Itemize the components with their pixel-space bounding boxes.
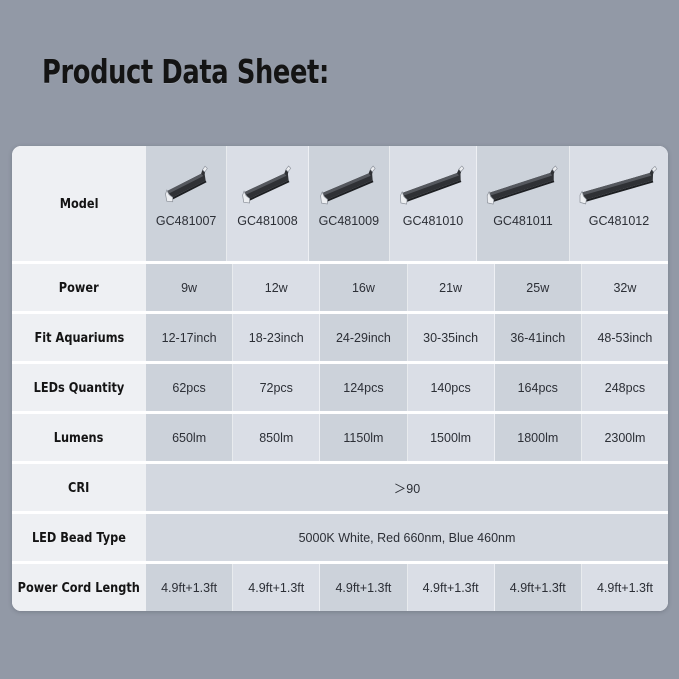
fit-aquariums-cell-5: 36-41inch [495,314,582,361]
power-cell-3: 16w [320,264,407,311]
table-row-led-bead-type: LED Bead Type 5000K White, Red 660nm, Bl… [12,514,668,564]
power-cord-length-cell-2: 4.9ft+1.3ft [233,564,320,611]
model-name: GC481007 [156,214,216,228]
leds-quantity-cell-3: 124pcs [320,364,407,411]
lumens-cell-3: 1150lm [320,414,407,461]
led-light-bar-icon [309,160,389,212]
led-light-bar-icon [146,160,226,212]
lumens-cell-6: 2300lm [582,414,668,461]
led-light-bar-icon [390,160,476,212]
power-cord-length-cell-4: 4.9ft+1.3ft [408,564,495,611]
fit-aquariums-cell-3: 24-29inch [320,314,407,361]
model-name: GC481011 [493,214,553,228]
table-row-model: Model GC481007 [12,146,668,264]
leds-quantity-cell-5: 164pcs [495,364,582,411]
power-cell-6: 32w [582,264,668,311]
row-label-lumens: Lumens [12,414,146,461]
table-row-fit-aquariums: Fit Aquariums 12-17inch 18-23inch 24-29i… [12,314,668,364]
model-cell-4: GC481010 [390,146,477,261]
fit-aquariums-cell-6: 48-53inch [582,314,668,361]
model-cell-2: GC481008 [227,146,308,261]
led-light-bar-icon [227,160,307,212]
table-row-lumens: Lumens 650lm 850lm 1150lm 1500lm 1800lm … [12,414,668,464]
fit-aquariums-cell-1: 12-17inch [146,314,233,361]
power-cell-5: 25w [495,264,582,311]
power-cell-1: 9w [146,264,233,311]
power-cord-length-cell-3: 4.9ft+1.3ft [320,564,407,611]
row-label-fit-aquariums: Fit Aquariums [12,314,146,361]
led-light-bar-icon [477,160,569,212]
lumens-cell-4: 1500lm [408,414,495,461]
led-light-bar-icon [570,160,668,212]
leds-quantity-cell-4: 140pcs [408,364,495,411]
row-label-power: Power [12,264,146,311]
fit-aquariums-cell-4: 30-35inch [408,314,495,361]
row-label-power-cord-length: Power Cord Length [12,564,146,611]
model-name: GC481008 [237,214,297,228]
model-cell-1: GC481007 [146,146,227,261]
model-cell-5: GC481011 [477,146,570,261]
table-row-cri: CRI ＞90 [12,464,668,514]
product-spec-table: Model GC481007 [12,146,668,611]
row-label-model: Model [12,146,146,261]
row-label-leds-quantity: LEDs Quantity [12,364,146,411]
model-name: GC481010 [403,214,463,228]
model-name: GC481012 [589,214,649,228]
model-cell-3: GC481009 [309,146,390,261]
row-label-led-bead-type: LED Bead Type [12,514,146,561]
power-cell-2: 12w [233,264,320,311]
leds-quantity-cell-2: 72pcs [233,364,320,411]
power-cord-length-cell-1: 4.9ft+1.3ft [146,564,233,611]
leds-quantity-cell-1: 62pcs [146,364,233,411]
lumens-cell-1: 650lm [146,414,233,461]
leds-quantity-cell-6: 248pcs [582,364,668,411]
table-row-leds-quantity: LEDs Quantity 62pcs 72pcs 124pcs 140pcs … [12,364,668,414]
model-cell-6: GC481012 [570,146,668,261]
row-label-cri: CRI [12,464,146,511]
page-title: Product Data Sheet: [42,52,329,91]
lumens-cell-5: 1800lm [495,414,582,461]
power-cord-length-cell-5: 4.9ft+1.3ft [495,564,582,611]
fit-aquariums-cell-2: 18-23inch [233,314,320,361]
model-name: GC481009 [319,214,379,228]
table-row-power: Power 9w 12w 16w 21w 25w 32w [12,264,668,314]
cri-value: ＞90 [146,464,668,511]
table-row-power-cord-length: Power Cord Length 4.9ft+1.3ft 4.9ft+1.3f… [12,564,668,611]
lumens-cell-2: 850lm [233,414,320,461]
led-bead-type-value: 5000K White, Red 660nm, Blue 460nm [146,514,668,561]
power-cord-length-cell-6: 4.9ft+1.3ft [582,564,668,611]
power-cell-4: 21w [408,264,495,311]
